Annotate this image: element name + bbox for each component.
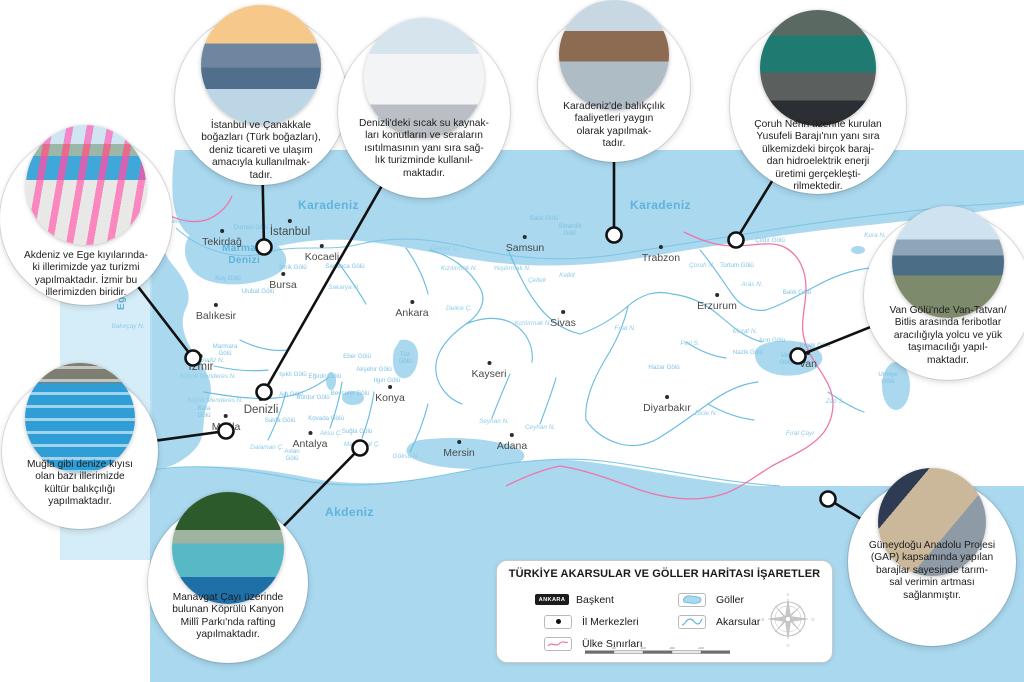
legend-label-goller: Göller [716, 594, 744, 606]
callout-coruh-yusufeli-baraji[interactable]: Çoruh Nehri üzerine kurulan Yusufeli Bar… [730, 18, 906, 194]
infographic-map-root: Karadeniz Karadeniz Marmara Denizi Ege D… [0, 0, 1024, 682]
callout-photo-fish [559, 0, 669, 110]
scale-bar: 050100150200 [585, 647, 731, 657]
compass-east-label: D [811, 617, 814, 622]
capital-symbol: ANKARA [535, 592, 569, 607]
egirdir-golu-shape [326, 372, 336, 390]
compass-west-label: B [762, 617, 765, 622]
callout-text-mugla-kultur-balikciligi: Muğla gibi denize kıyısı olan bazı iller… [14, 459, 145, 509]
legend-label-akarsular: Akarsular [716, 616, 760, 628]
border-symbol [541, 636, 575, 651]
tuz-golu-shape [393, 340, 418, 379]
callout-gap-baraj-tarim[interactable]: Güneydoğu Anadolu Projesi (GAP) kapsamın… [848, 478, 1016, 646]
compass-north-label: K [787, 592, 790, 597]
callout-denizli-sicak-su[interactable]: Denizli'deki sıcak su kaynak- ları konut… [338, 26, 510, 198]
callout-photo-beach [26, 125, 146, 245]
callout-text-manavgat-rafting: Manavgat Çayı üzerinde bulunan Köprülü K… [161, 592, 295, 642]
legend-title: TÜRKİYE AKARSULAR VE GÖLLER HARİTASI İŞA… [497, 568, 832, 580]
cildir-golu-shape [851, 246, 865, 254]
callout-photo-dam [760, 10, 876, 126]
legend-item-il-merkezleri: İl Merkezleri [541, 614, 639, 629]
callout-akdeniz-ege-turizm[interactable]: Akdeniz ve Ege kıyılarında- ki illerimiz… [0, 133, 172, 305]
callout-photo-bridge [201, 5, 321, 125]
svg-text:150: 150 [669, 647, 675, 650]
callout-text-bogazlar-deniz-ticareti: İstanbul ve Çanakkale boğazları (Türk bo… [189, 120, 333, 182]
svg-text:200: 200 [698, 647, 704, 650]
callout-text-van-golu-feribot: Van Gölü'nde Van-Tatvan/ Bitlis arasında… [877, 305, 1018, 367]
callout-karadeniz-balikcilik[interactable]: Karadeniz'de balıkçılık faaliyetleri yay… [538, 10, 690, 162]
svg-text:50: 50 [612, 647, 616, 650]
lake-symbol [675, 592, 709, 607]
callout-photo-fishfarm [25, 363, 135, 473]
callout-photo-ferry [892, 206, 1004, 318]
callout-text-karadeniz-balikcilik: Karadeniz'de balıkçılık faaliyetleri yay… [550, 101, 678, 151]
svg-text:0: 0 [585, 647, 586, 650]
compass-south-label: G [786, 643, 790, 648]
city-point-symbol-box [544, 615, 572, 629]
callout-photo-rafting [172, 492, 284, 604]
river-line-icon [681, 616, 703, 627]
capital-symbol-text: ANKARA [535, 594, 569, 605]
svg-text:100: 100 [640, 647, 646, 650]
callout-text-denizli-sicak-su: Denizli'deki sıcak su kaynak- ları konut… [352, 118, 496, 180]
legend-label-baskent: Başkent [576, 594, 614, 606]
river-symbol [675, 614, 709, 629]
callout-manavgat-rafting[interactable]: Manavgat Çayı üzerinde bulunan Köprülü K… [148, 503, 308, 663]
callout-text-akdeniz-ege-turizm: Akdeniz ve Ege kıyılarında- ki illerimiz… [14, 250, 158, 300]
compass-rose: K D G B [758, 589, 818, 649]
callout-text-gap-baraj-tarim: Güneydoğu Anadolu Projesi (GAP) kapsamın… [861, 540, 1002, 602]
border-line-icon [547, 639, 569, 649]
city-point-symbol [541, 614, 575, 629]
legend-item-baskent: ANKARA Başkent [535, 592, 614, 607]
legend-item-akarsular: Akarsular [675, 614, 760, 629]
callout-van-golu-feribot[interactable]: Van Gölü'nde Van-Tatvan/ Bitlis arasında… [864, 212, 1024, 380]
legend-label-il-merkezleri: İl Merkezleri [582, 616, 639, 628]
callout-text-coruh-yusufeli-baraji: Çoruh Nehri üzerine kurulan Yusufeli Bar… [744, 119, 892, 193]
city-dot-icon [556, 619, 561, 624]
river-symbol-box [678, 615, 706, 629]
map-legend: TÜRKİYE AKARSULAR VE GÖLLER HARİTASI İŞA… [496, 560, 833, 663]
callout-mugla-kultur-balikciligi[interactable]: Muğla gibi denize kıyısı olan bazı iller… [2, 373, 158, 529]
lake-shape-icon [681, 594, 703, 605]
beysehir-golu-shape [342, 391, 364, 405]
lake-symbol-box [678, 593, 706, 607]
legend-item-goller: Göller [675, 592, 744, 607]
border-symbol-box [544, 637, 572, 651]
callout-bogazlar-deniz-ticareti[interactable]: İstanbul ve Çanakkale boğazları (Türk bo… [175, 13, 347, 185]
